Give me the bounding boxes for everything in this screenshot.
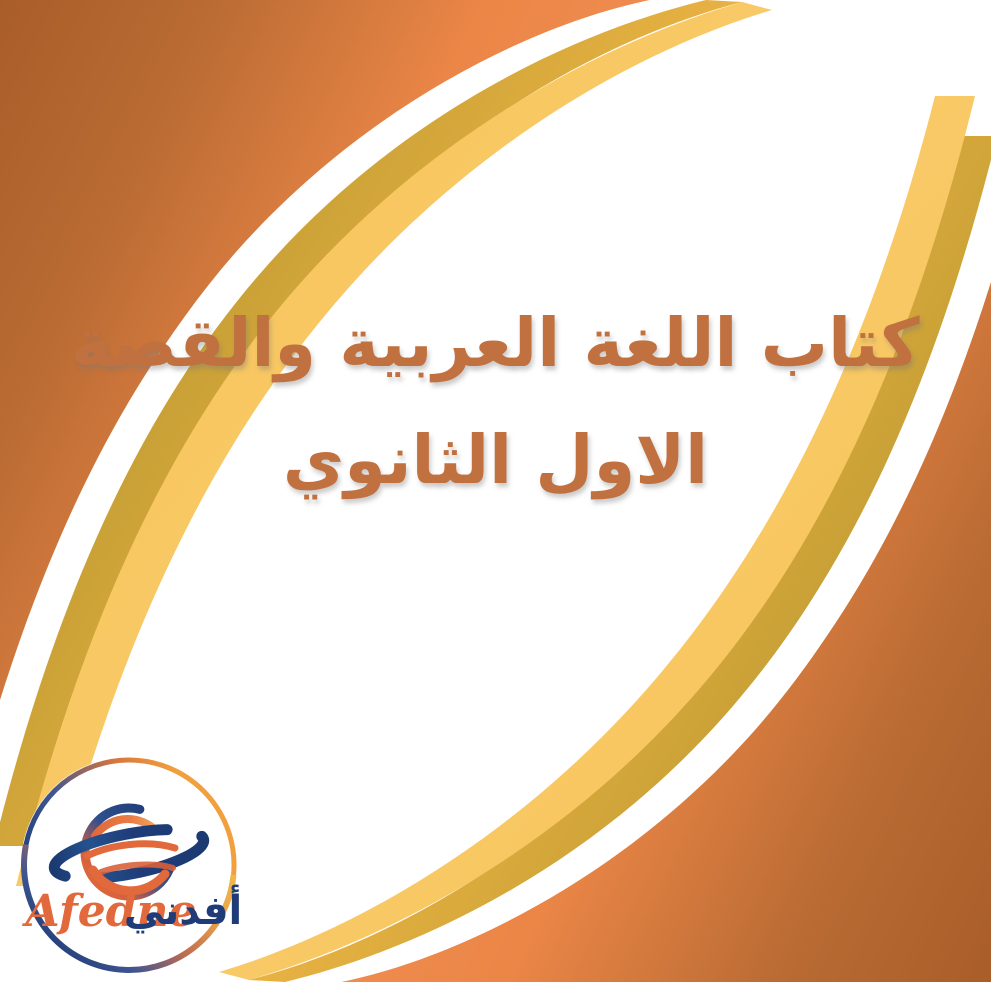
afedne-logo[interactable]: Afedne أفدني [15,752,243,978]
cover-title-line-2: الاول الثانوي [0,413,991,508]
swoosh-bottom-right [219,96,991,982]
cover-canvas: كتاب اللغة العربية والقصة الاول الثانوي [0,0,991,982]
cover-title-block: كتاب اللغة العربية والقصة الاول الثانوي [0,296,991,508]
cover-title-line-1: كتاب اللغة العربية والقصة [0,296,991,391]
swoosh-gold-light-bottom-right [219,96,975,980]
logo-brand-arabic: أفدني [124,884,243,934]
swoosh-gold-dark-bottom-right [249,136,991,982]
